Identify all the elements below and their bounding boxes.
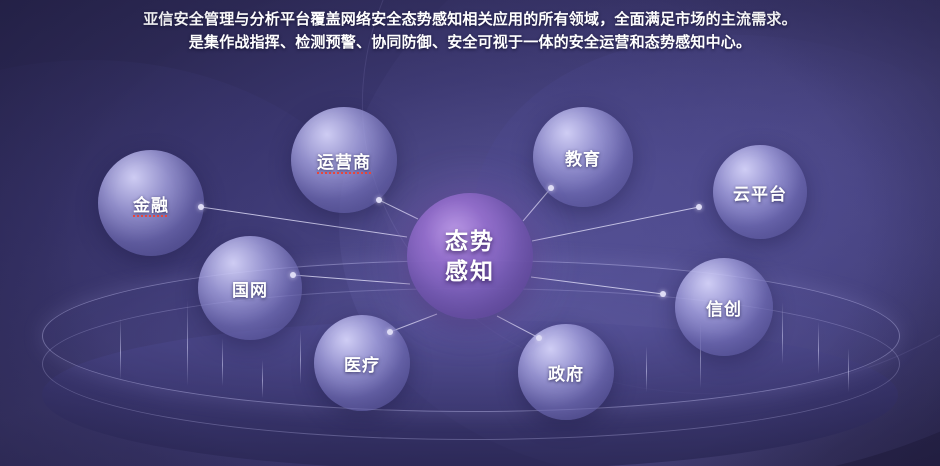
node-stategrid[interactable]: 国网 (198, 236, 302, 340)
center-label-line-2: 感知 (445, 256, 495, 286)
connector-line (201, 207, 407, 237)
center-label-line-1: 态势 (445, 226, 495, 256)
connector-line (379, 200, 418, 219)
title-line-1: 亚信安全管理与分析平台覆盖网络安全态势感知相关应用的所有领域，全面满足市场的主流… (0, 8, 940, 31)
title-line-2: 是集作战指挥、检测预警、协同防御、安全可视于一体的安全运营和态势感知中心。 (0, 31, 940, 54)
node-education[interactable]: 教育 (533, 107, 633, 207)
node-operator[interactable]: 运营商 (291, 107, 397, 213)
node-label: 教育 (565, 145, 601, 170)
light-bar (818, 322, 819, 374)
connector-endpoint-dot (696, 204, 702, 210)
light-bar (300, 330, 301, 384)
connector-line (531, 277, 663, 294)
node-label: 运营商 (317, 148, 371, 173)
light-bar (222, 338, 223, 386)
node-label: 国网 (232, 276, 268, 301)
light-bar (120, 318, 121, 380)
light-bar (262, 360, 263, 398)
center-node-label: 态势感知 (445, 226, 495, 286)
node-healthcare[interactable]: 医疗 (314, 315, 410, 411)
connector-endpoint-dot (660, 291, 666, 297)
background-arc (312, 0, 940, 453)
light-bar (848, 348, 849, 392)
node-finance[interactable]: 金融 (98, 150, 204, 256)
connector-line (497, 316, 539, 338)
connector-line (532, 207, 699, 241)
infographic-canvas: 亚信安全管理与分析平台覆盖网络安全态势感知相关应用的所有领域，全面满足市场的主流… (0, 0, 940, 466)
node-situational-awareness[interactable]: 态势感知 (407, 193, 533, 319)
node-government[interactable]: 政府 (518, 324, 614, 420)
light-bar (782, 302, 783, 364)
node-cloud[interactable]: 云平台 (713, 145, 807, 239)
node-label: 政府 (548, 360, 584, 385)
node-label: 金融 (133, 191, 169, 216)
platform-body (42, 320, 898, 466)
page-title: 亚信安全管理与分析平台覆盖网络安全态势感知相关应用的所有领域，全面满足市场的主流… (0, 8, 940, 54)
node-label: 云平台 (733, 180, 787, 205)
light-bar (187, 300, 188, 386)
light-bar (646, 346, 647, 392)
node-label: 信创 (706, 295, 742, 320)
connector-line (523, 188, 551, 221)
connector-line (293, 275, 410, 284)
node-label: 医疗 (344, 351, 380, 376)
node-itai[interactable]: 信创 (675, 258, 773, 356)
